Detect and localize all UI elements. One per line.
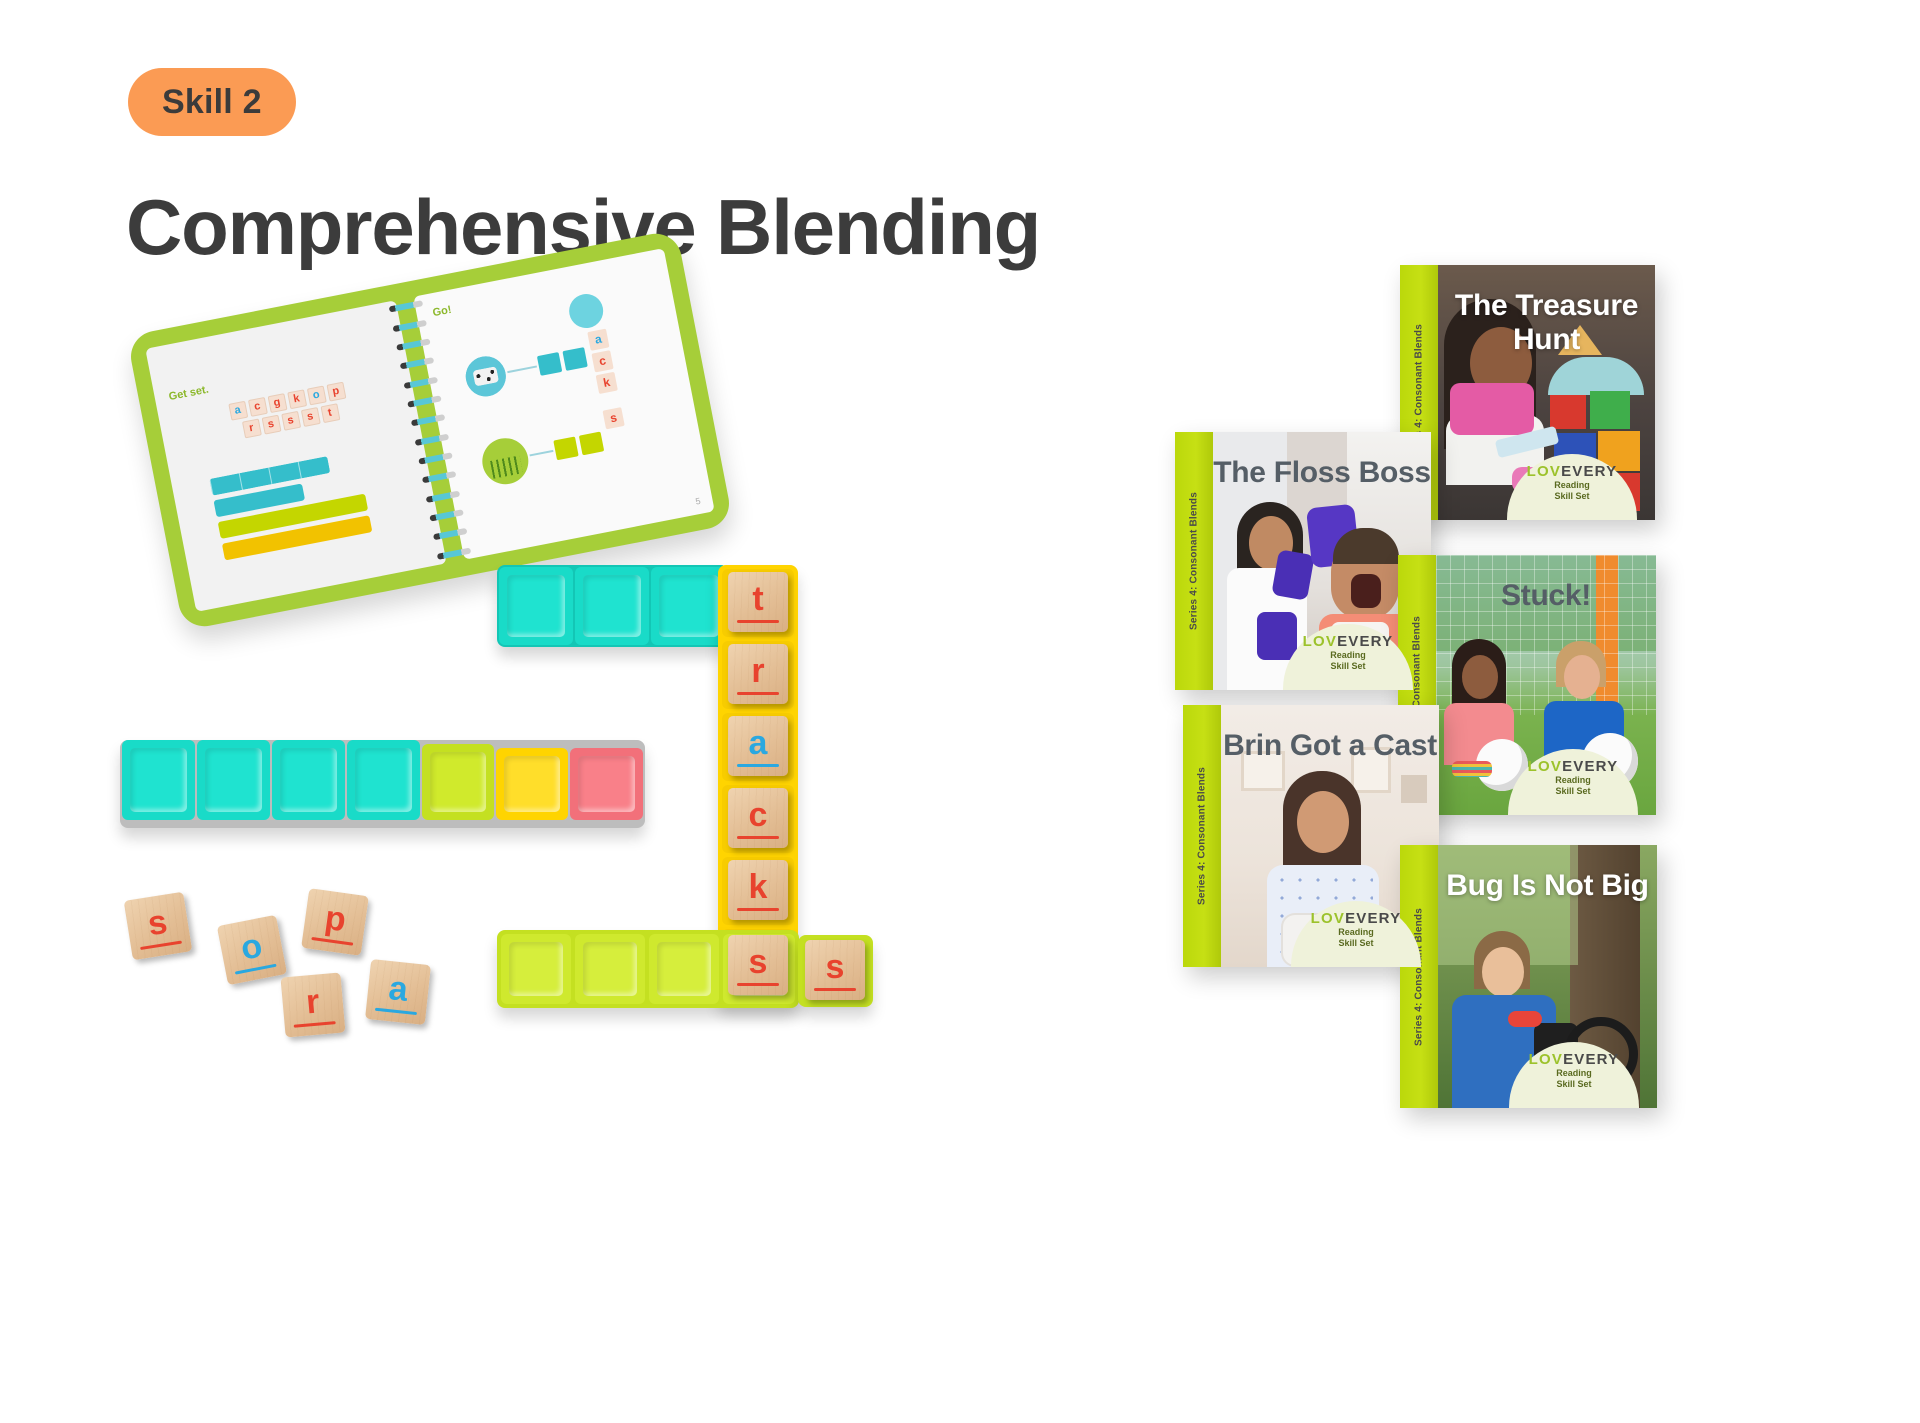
workbook-letter: c: [247, 397, 267, 417]
book-spine-text: Series 4: Consonant Blends: [1189, 492, 1200, 630]
badge-line-1: Reading: [1330, 650, 1366, 660]
loose-letter-tile-a[interactable]: a: [365, 959, 431, 1025]
flow-block-green: [579, 432, 604, 456]
insect-photo-icon: [566, 291, 606, 331]
photo-glove: [1257, 612, 1297, 660]
book-spine: Series 4: Consonant Blends: [1400, 845, 1438, 1108]
book-the-treasure-hunt[interactable]: Series 4: Consonant Blends The Treasure …: [1400, 265, 1655, 520]
letter-tile-label: k: [749, 870, 768, 904]
workbook-letter: g: [267, 393, 287, 413]
photo-wall-decor: [1401, 775, 1427, 803]
photo-sock: [1452, 761, 1492, 777]
letter-tile-s[interactable]: s: [728, 935, 788, 995]
letter-tile-k[interactable]: k: [728, 860, 788, 920]
brand-every: EVERY: [1561, 463, 1617, 480]
brand-lov: LOV: [1527, 463, 1561, 480]
book-title: The Floss Boss: [1213, 456, 1431, 490]
letter-tile-label: r: [751, 654, 764, 688]
grass-photo-icon: [478, 434, 532, 488]
workbook-getset-label: Get set.: [168, 384, 210, 403]
photo-block: [1550, 395, 1586, 429]
book-brin-got-a-cast[interactable]: Series 4: Consonant Blends Brin Got a Ca…: [1183, 705, 1439, 967]
flow-letter: c: [591, 350, 613, 372]
workbook-page-number: 5: [695, 496, 702, 507]
book-the-floss-boss[interactable]: Series 4: Consonant Blends The Floss Bos…: [1175, 432, 1431, 690]
skill-badge: Skill 2: [128, 68, 296, 136]
photo-block: [1548, 357, 1644, 395]
book-spine: Series 4: Consonant Blends: [1183, 705, 1221, 967]
letter-tile-label: c: [749, 798, 768, 832]
badge-line-1: Reading: [1554, 480, 1590, 490]
book-title: Bug Is Not Big: [1438, 869, 1657, 903]
workbook-activity-flow: a c k s: [439, 294, 694, 514]
badge-line-2: Skill Set: [1554, 491, 1589, 501]
letter-tile-label: s: [826, 950, 845, 984]
photo-face: [1297, 791, 1349, 853]
letter-tile-label: s: [146, 905, 170, 942]
letter-tile-a[interactable]: a: [728, 716, 788, 776]
letter-tile-c[interactable]: c: [728, 788, 788, 848]
letter-tile-label: r: [305, 985, 321, 1020]
tray-top-teal[interactable]: [497, 565, 729, 647]
loose-letter-tile-o[interactable]: o: [217, 915, 287, 985]
book-cover: Stuck! LOVEVERY ReadingSkill Set: [1436, 555, 1656, 815]
book-cover: Bug Is Not Big LOVEVERY ReadingSkill Set: [1438, 845, 1657, 1108]
badge-line-2: Skill Set: [1556, 1079, 1591, 1089]
book-cover: Brin Got a Cast LOVEVERY ReadingSkill Se…: [1221, 705, 1439, 967]
photo-face: [1462, 655, 1498, 699]
book-spine: Series 4: Consonant Blends: [1175, 432, 1213, 690]
letter-tile-r[interactable]: r: [728, 644, 788, 704]
brand-every: EVERY: [1337, 633, 1393, 650]
workbook-letter: t: [320, 403, 340, 423]
flow-connector: [507, 365, 537, 373]
flow-connector: [529, 450, 553, 457]
loose-letter-tile-p[interactable]: p: [301, 888, 369, 956]
tray-long-mixed[interactable]: [120, 740, 645, 828]
flow-block-green: [553, 436, 578, 460]
badge-line-2: Skill Set: [1338, 938, 1373, 948]
workbook-letter: s: [281, 411, 301, 431]
letter-tile-label: p: [323, 901, 348, 938]
brand-every: EVERY: [1345, 910, 1401, 927]
book-bug-is-not-big[interactable]: Series 4: Consonant Blends Bug Is Not Bi…: [1400, 845, 1657, 1108]
page-root: Skill 2 Comprehensive Blending Get set. …: [0, 0, 1920, 1423]
badge-line-2: Skill Set: [1555, 786, 1590, 796]
book-cover: The Treasure Hunt LOVEVERY ReadingSkill …: [1438, 265, 1655, 520]
badge-line-2: Skill Set: [1330, 661, 1365, 671]
brand-lov: LOV: [1311, 910, 1345, 927]
book-spine-text: Series 4: Consonant Blends: [1197, 767, 1208, 905]
workbook-color-bars: [209, 450, 373, 565]
book-title: Brin Got a Cast: [1221, 729, 1439, 763]
dog-photo-icon: [462, 353, 509, 400]
photo-open-mouth: [1351, 574, 1381, 608]
workbook-letter: k: [287, 389, 307, 409]
workbook-go-label: Go!: [432, 304, 453, 319]
workbook-letter-grid: a c g k o p r s s s t: [182, 373, 396, 452]
flow-letter: s: [602, 407, 624, 429]
workbook-letter: o: [306, 386, 326, 406]
letter-tile-s-extra[interactable]: s: [805, 940, 865, 1000]
letter-tile-label: a: [749, 726, 768, 760]
flow-letter: k: [596, 372, 618, 394]
letter-tile-label: s: [749, 945, 768, 979]
photo-block: [1590, 391, 1630, 429]
letter-tile-label: t: [752, 582, 763, 616]
photo-face: [1482, 947, 1524, 997]
workbook-letter: p: [326, 382, 346, 402]
workbook-letter: s: [300, 407, 320, 427]
letter-tile-label: a: [387, 971, 409, 1007]
photo-face: [1564, 655, 1600, 699]
brand-every: EVERY: [1562, 758, 1618, 775]
brand-lov: LOV: [1303, 633, 1337, 650]
photo-toy: [1508, 1011, 1542, 1027]
photo-vest: [1450, 383, 1534, 435]
workbook-letter: s: [261, 415, 281, 435]
workbook-letter: r: [241, 419, 261, 439]
badge-line-1: Reading: [1555, 775, 1591, 785]
flow-block-teal: [562, 347, 587, 371]
loose-letter-tile-s[interactable]: s: [124, 892, 193, 961]
book-spine-text: Series 4: Consonant Blends: [1414, 907, 1425, 1045]
photo-glove: [1271, 549, 1314, 601]
brand-every: EVERY: [1563, 1051, 1619, 1068]
letter-tile-t[interactable]: t: [728, 572, 788, 632]
letter-tile-label: o: [238, 928, 265, 965]
book-title: Stuck!: [1436, 579, 1656, 613]
brand-lov: LOV: [1528, 758, 1562, 775]
flow-letter: a: [587, 329, 609, 351]
badge-line-1: Reading: [1556, 1068, 1592, 1078]
brand-lov: LOV: [1529, 1051, 1563, 1068]
badge-line-1: Reading: [1338, 927, 1374, 937]
loose-letter-tile-r[interactable]: r: [280, 972, 345, 1037]
flow-block-teal: [537, 352, 562, 376]
workbook-letter: a: [228, 401, 248, 421]
book-title: The Treasure Hunt: [1438, 289, 1655, 357]
